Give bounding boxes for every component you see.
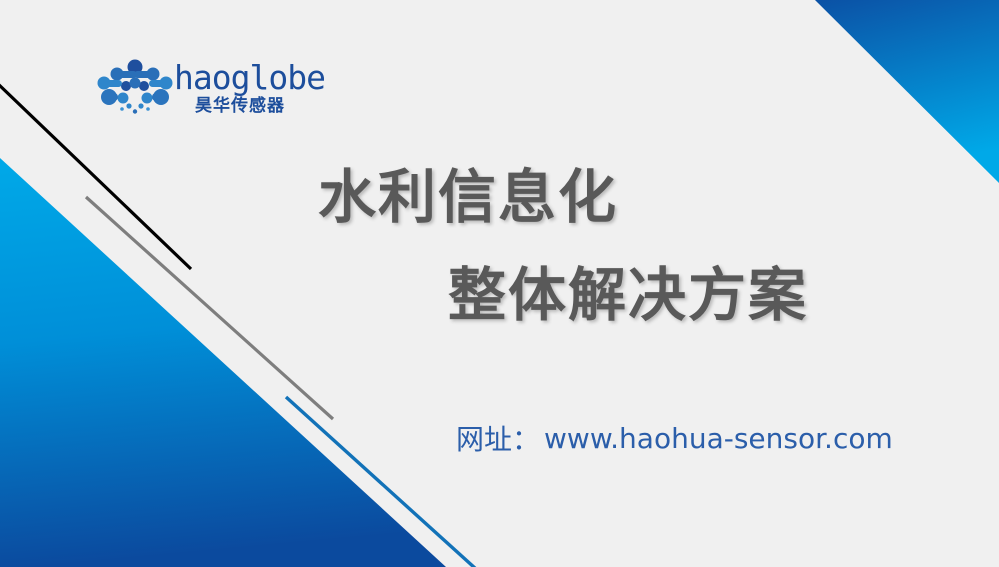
website-line: 网址：www.haohua-sensor.com bbox=[456, 418, 893, 458]
presentation-slide: haoglobe 昊华传感器 水利信息化 整体解决方案 网址：www.haohu… bbox=[0, 0, 999, 567]
haoglobe-wordmark: haoglobe bbox=[174, 59, 324, 97]
top-right-blue-triangle bbox=[815, 0, 999, 183]
slide-title-line-2: 整体解决方案 bbox=[448, 258, 808, 332]
website-url[interactable]: www.haohua-sensor.com bbox=[544, 422, 893, 455]
haoglobe-dot-cluster-logo-icon bbox=[96, 59, 174, 117]
blue-diagonal-line bbox=[286, 397, 476, 567]
company-logo[interactable]: haoglobe 昊华传感器 bbox=[96, 55, 326, 125]
svg-text:haoglobe: haoglobe bbox=[174, 59, 324, 97]
website-label: 网址： bbox=[456, 423, 540, 456]
slide-title-line-1: 水利信息化 bbox=[318, 160, 618, 234]
company-chinese-name: 昊华传感器 bbox=[195, 97, 325, 116]
slide-title-group: 水利信息化 整体解决方案 bbox=[0, 160, 999, 350]
